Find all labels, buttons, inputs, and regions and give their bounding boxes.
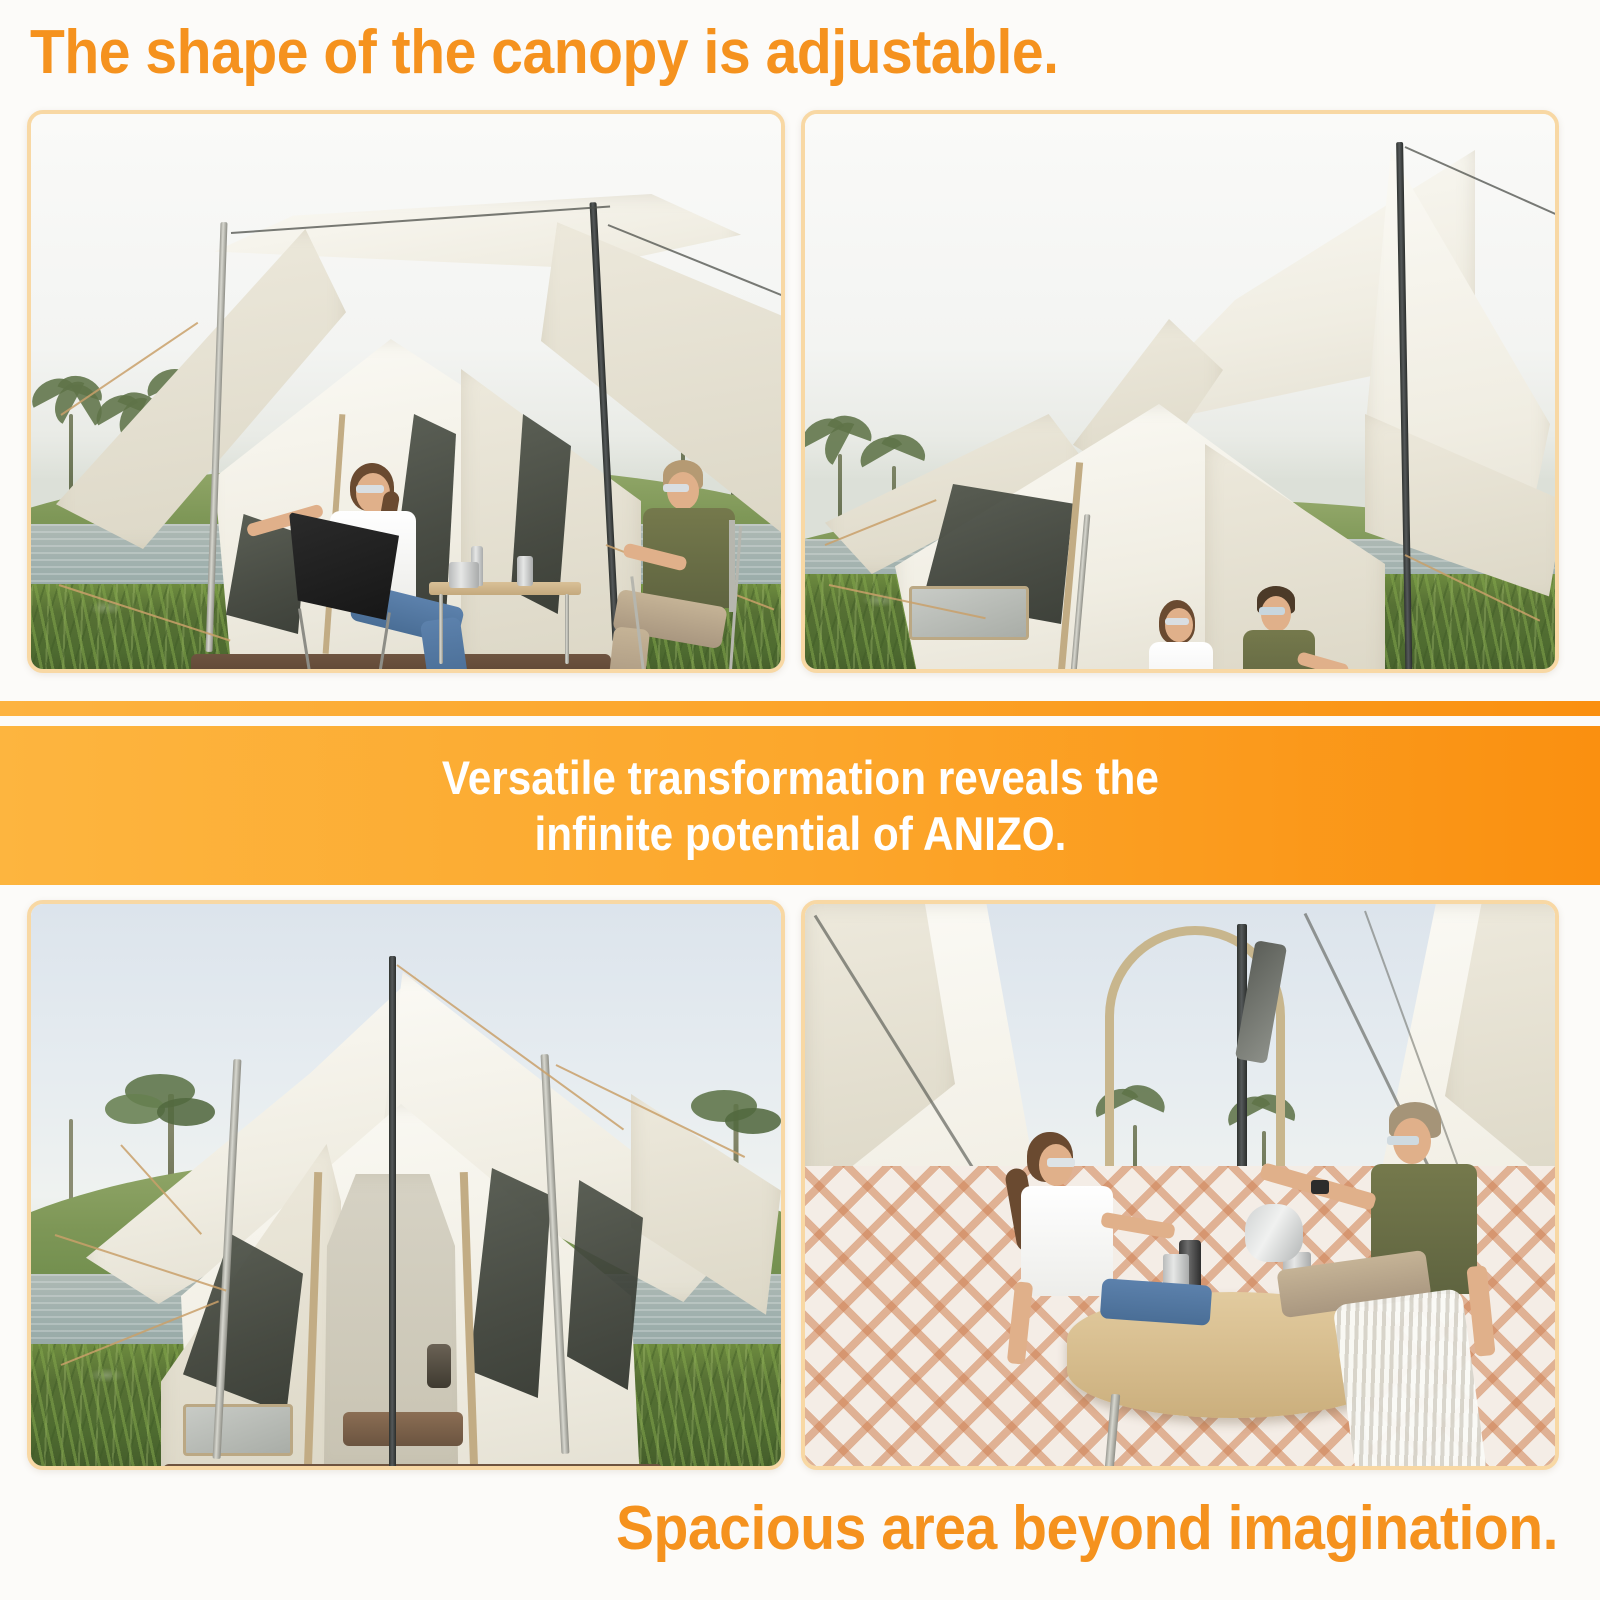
jeans — [1100, 1278, 1213, 1326]
wristwatch — [1311, 1180, 1329, 1194]
sunglasses — [1165, 618, 1189, 625]
product-photo-panel-bottom-right — [801, 900, 1559, 1470]
camp-chair-left — [289, 512, 419, 669]
chair-leg — [374, 612, 391, 669]
sunglasses — [1047, 1158, 1075, 1167]
banner-line-1: Versatile transformation reveals the — [441, 750, 1158, 805]
tent-groundsheet — [163, 1464, 663, 1466]
white-tshirt — [1149, 642, 1213, 669]
photo-tent-awning-extended — [31, 114, 781, 669]
photo-tent-fully-pitched — [31, 904, 781, 1466]
table-leg — [439, 594, 443, 664]
sunglasses — [1387, 1136, 1419, 1145]
product-photo-panel-top-right — [801, 110, 1559, 673]
white-tshirt — [1021, 1186, 1113, 1296]
kettle — [1245, 1204, 1303, 1262]
sunglasses — [356, 485, 384, 493]
banner-line-2: infinite potential of ANIZO. — [534, 806, 1066, 861]
photo-tent-interior — [805, 904, 1555, 1466]
metal-cup — [517, 556, 533, 586]
person-woman-on-mat — [1005, 1132, 1185, 1382]
chair-leg — [298, 608, 315, 669]
arm-supporting — [1466, 1265, 1495, 1357]
person-man-sitting-floor — [1237, 592, 1377, 669]
product-photo-panel-top-left — [27, 110, 785, 673]
tent-low-window — [183, 1404, 293, 1456]
banner-accent-stripe — [0, 701, 1600, 716]
head — [1165, 608, 1193, 642]
table-leg — [565, 594, 569, 664]
sunglasses — [1259, 607, 1285, 615]
camp-chair-right — [629, 506, 759, 669]
page-title-bottom: Spacious area beyond imagination. — [143, 1490, 1558, 1568]
photo-tent-canopy-folded-sail — [805, 114, 1555, 669]
striped-towel — [1332, 1288, 1487, 1466]
bedding-roll — [343, 1412, 463, 1446]
center-pole — [389, 956, 396, 1466]
chair-backrest — [729, 520, 735, 612]
chair-leg — [630, 576, 646, 669]
arm-supporting — [1007, 1281, 1033, 1364]
hanging-lantern — [427, 1344, 451, 1388]
ice-bucket — [449, 562, 479, 588]
product-photo-panel-bottom-left — [27, 900, 785, 1470]
banner-text: Versatile transformation reveals the inf… — [0, 726, 1600, 885]
banner: Versatile transformation reveals the inf… — [0, 726, 1600, 885]
page-title-top: The shape of the canopy is adjustable. — [30, 14, 1447, 92]
sunglasses — [663, 484, 689, 492]
chair-seat — [289, 512, 399, 620]
